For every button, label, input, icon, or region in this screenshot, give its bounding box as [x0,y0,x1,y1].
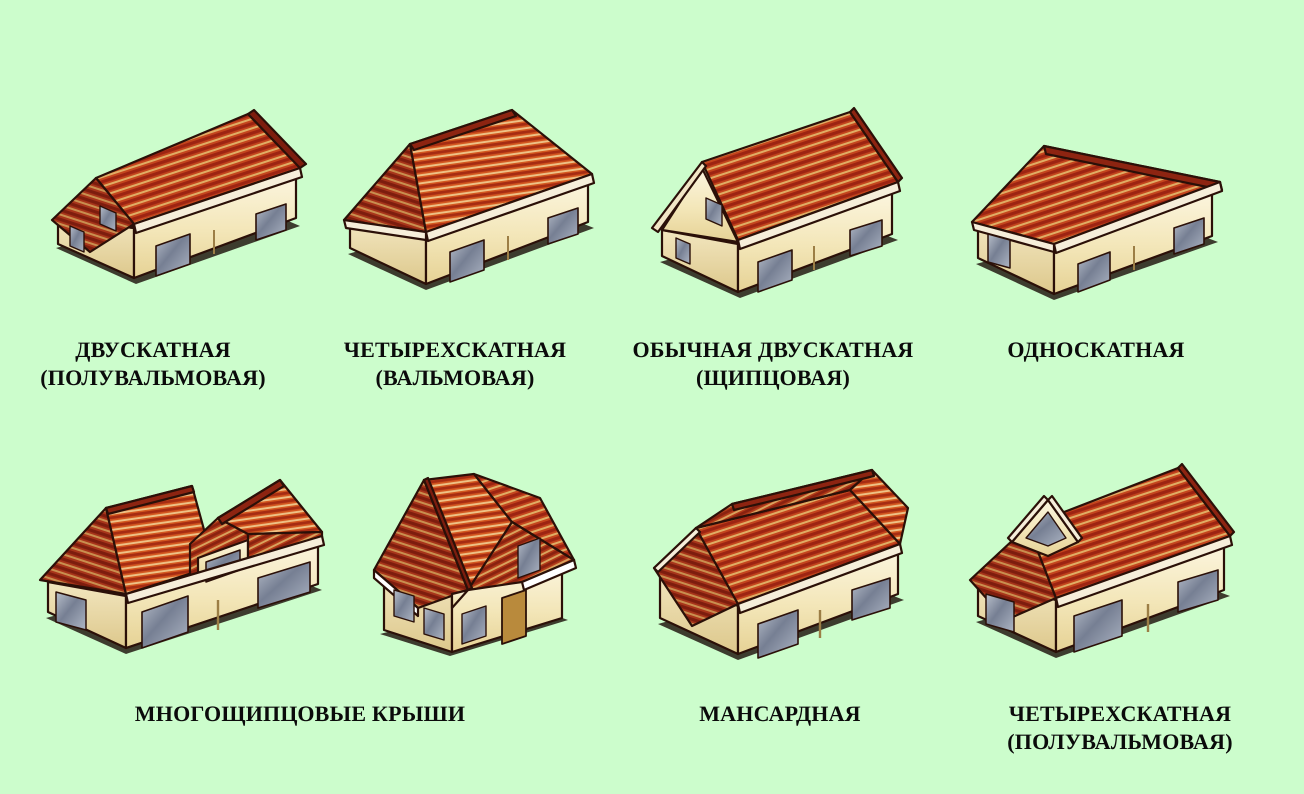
label-mansardnaya: МАНСАРДНАЯ [630,700,930,728]
label-chetyrehskatnaya-valmovaya: ЧЕТЫРЕХСКАТНАЯ (ВАЛЬМОВАЯ) [310,336,600,392]
house-card-5 [22,440,362,672]
house-multi-gable-left-illustration [22,440,362,672]
house-hipped-illustration [326,86,626,308]
label-dvuskatnaya-poluvalmovaya: ДВУСКАТНАЯ (ПОЛУВАЛЬМОВАЯ) [0,336,306,392]
label-obychnaya-dvuskatnaya-shchiptsovaya: ОБЫЧНАЯ ДВУСКАТНАЯ (ЩИПЦОВАЯ) [600,336,946,392]
house-shed-illustration [952,118,1252,310]
roof-types-diagram: ДВУСКАТНАЯ (ПОЛУВАЛЬМОВАЯ) ЧЕТЫРЕХСКАТНА… [0,0,1304,794]
house-card-7 [636,448,936,672]
house-card-1 [38,78,338,308]
house-card-6 [362,458,598,668]
house-half-hipped-dormer-illustration [952,446,1262,676]
house-card-4 [952,118,1252,310]
label-chetyrehskatnaya-poluvalmovaya: ЧЕТЫРЕХСКАТНАЯ (ПОЛУВАЛЬМОВАЯ) [940,700,1300,756]
house-card-3 [636,92,936,312]
house-card-2 [326,86,626,308]
label-odnoskatnaya: ОДНОСКАТНАЯ [946,336,1246,364]
house-mansard-illustration [636,448,936,672]
house-half-hipped-gable-illustration [38,78,338,308]
house-gable-illustration [636,92,936,312]
house-multi-gable-right-illustration [362,458,598,668]
label-mnogoshchiptsovye-kryshi: МНОГОЩИПЦОВЫЕ КРЫШИ [60,700,540,728]
house-card-8 [952,446,1262,676]
